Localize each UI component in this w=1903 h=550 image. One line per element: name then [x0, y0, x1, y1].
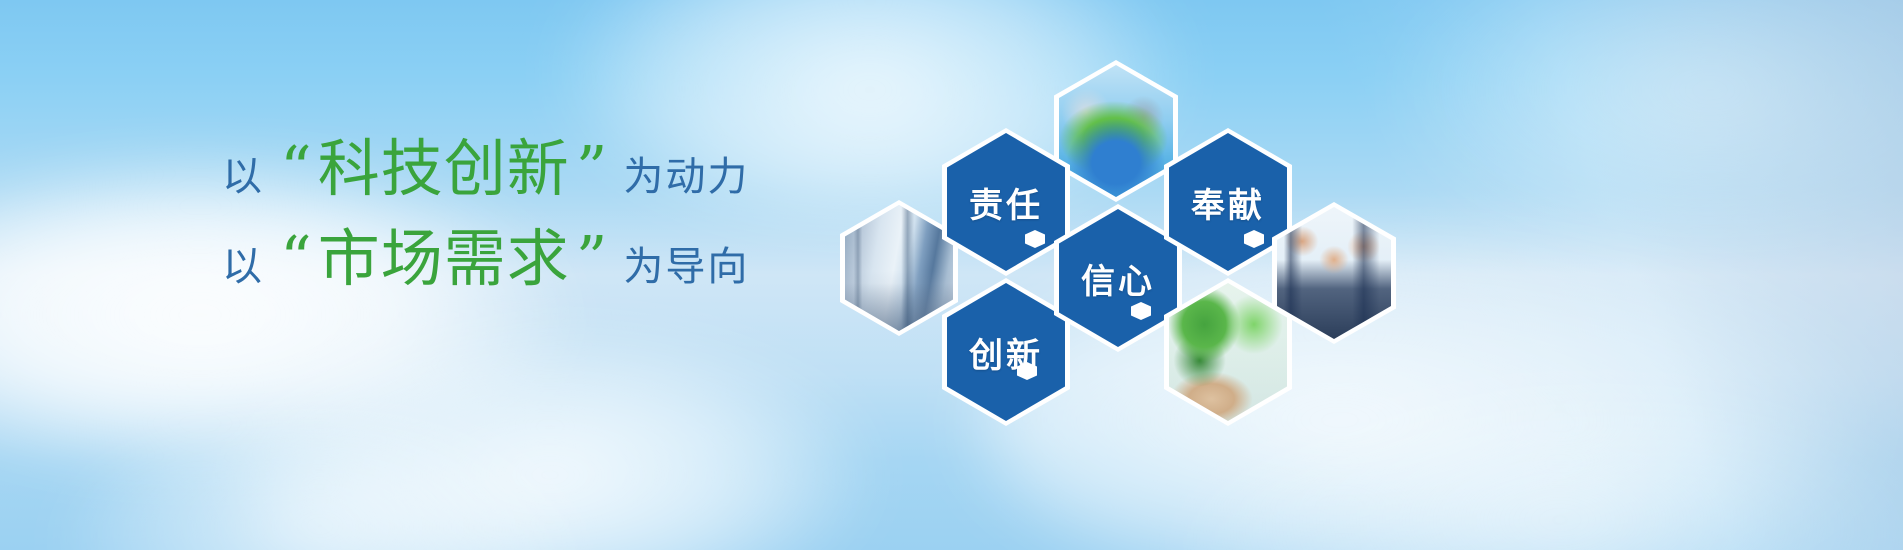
slogan-line-1-open-quote: “	[280, 138, 312, 200]
hex-label-confidence: 信心	[1081, 254, 1155, 303]
slogan-line-2-highlight: 市场需求	[318, 228, 570, 290]
cloud-blob	[1180, 400, 1903, 550]
cloud-blob	[60, 430, 580, 550]
cloud-blob	[230, 330, 870, 550]
slogan-line-2: 以 “ 市场需求 ” 为导向	[222, 228, 782, 290]
slogan-line-1-prefix: 以	[222, 157, 264, 197]
slogan-line-2-open-quote: “	[280, 228, 312, 290]
slogan-line-1: 以 “ 科技创新 ” 为动力	[222, 138, 782, 200]
hex-label-responsibility: 责任	[969, 178, 1043, 227]
slogan-line-1-suffix: 为动力	[623, 157, 749, 197]
promo-banner: 以 “ 科技创新 ” 为动力 以 “ 市场需求 ” 为导向 责任	[0, 0, 1903, 550]
hexagon-cluster: 责任 创新 信心 奉献	[820, 40, 1420, 420]
cloud-blob	[1400, 0, 1903, 240]
slogan-line-2-suffix: 为导向	[623, 247, 749, 287]
slogan-block: 以 “ 科技创新 ” 为动力 以 “ 市场需求 ” 为导向	[222, 138, 782, 290]
hex-label-dedication: 奉献	[1191, 178, 1265, 227]
slogan-line-1-highlight: 科技创新	[318, 138, 570, 200]
slogan-line-1-close-quote: ”	[576, 138, 608, 200]
slogan-line-2-prefix: 以	[222, 247, 264, 287]
slogan-line-2-close-quote: ”	[576, 228, 608, 290]
